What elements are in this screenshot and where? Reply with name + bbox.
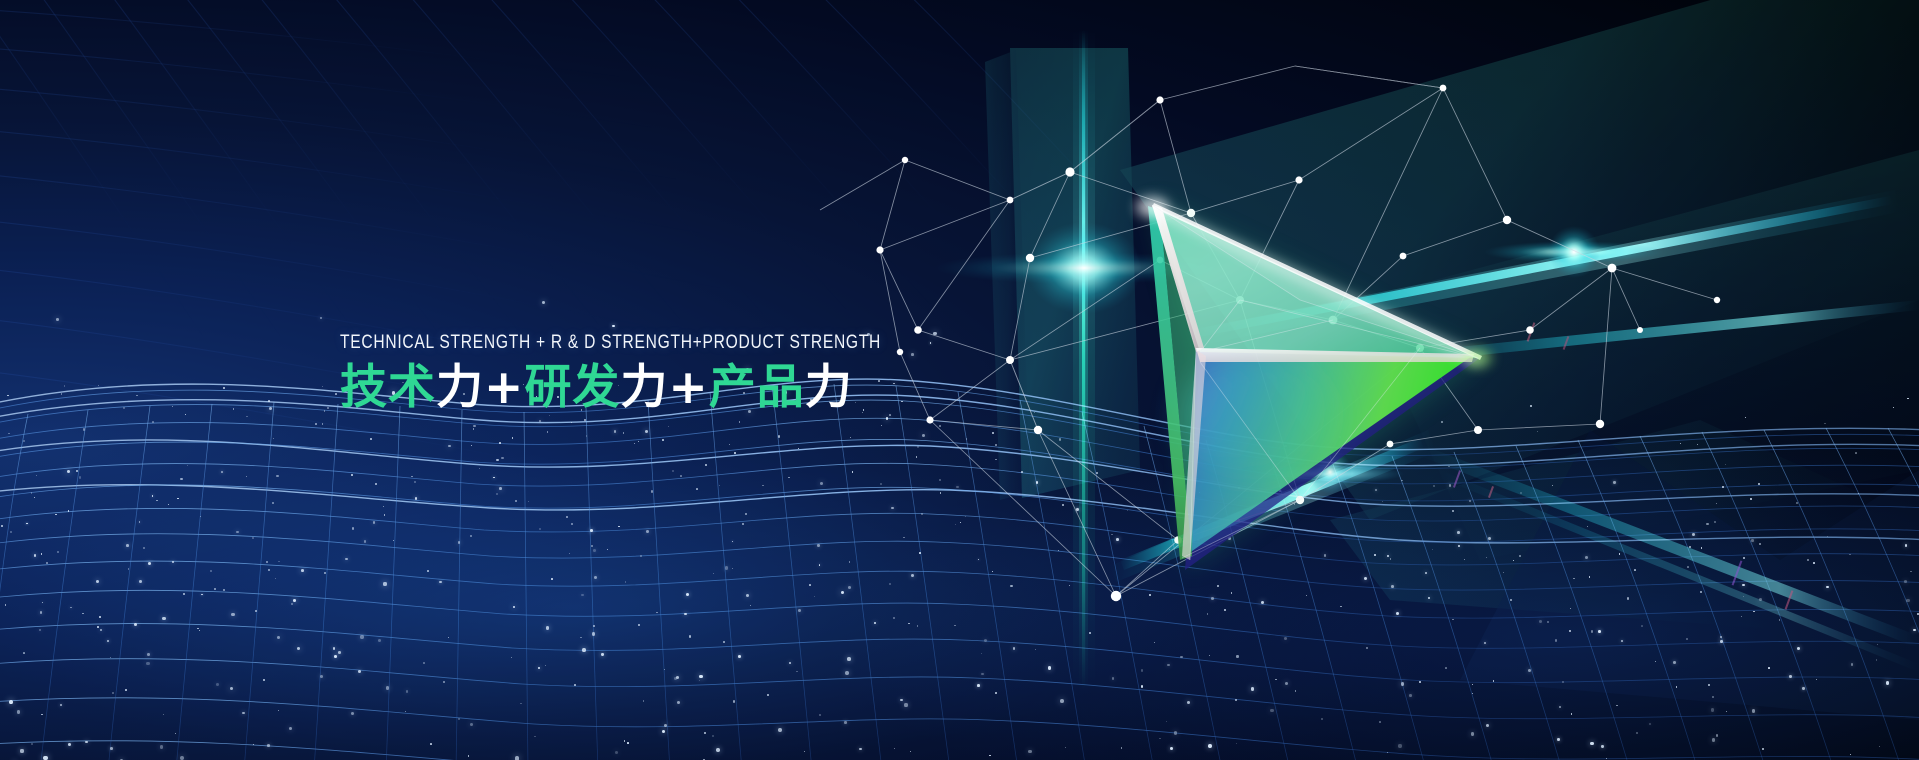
particle <box>1716 503 1717 504</box>
particle <box>1112 677 1115 680</box>
particle <box>210 570 211 571</box>
particle <box>676 676 680 680</box>
particle <box>100 629 103 632</box>
particle <box>732 541 733 542</box>
particle <box>275 578 277 580</box>
particle <box>1743 596 1744 597</box>
particle <box>903 537 905 539</box>
particle <box>1655 661 1656 662</box>
particle <box>977 684 980 687</box>
particle <box>320 675 323 678</box>
particle <box>1616 705 1618 707</box>
particle <box>1294 503 1296 505</box>
particle <box>1813 562 1815 564</box>
particle <box>333 647 336 650</box>
particle <box>1589 576 1590 577</box>
particle <box>1493 680 1494 681</box>
particle <box>1464 559 1465 560</box>
particle <box>1154 642 1155 643</box>
particle <box>1069 585 1070 586</box>
particle <box>917 625 919 627</box>
particle <box>1208 744 1212 748</box>
particle <box>199 630 200 631</box>
hero-banner: TECHNICAL STRENGTH + R & D STRENGTH+PROD… <box>0 0 1919 760</box>
particle <box>584 419 586 421</box>
particle <box>1285 682 1288 685</box>
particle <box>874 622 877 625</box>
particle <box>1339 436 1341 438</box>
particle <box>1742 584 1745 587</box>
particle <box>664 669 665 670</box>
particle <box>849 561 850 562</box>
particle <box>571 523 573 525</box>
particle <box>1745 417 1747 419</box>
particle <box>699 680 700 681</box>
particle <box>1324 554 1327 557</box>
particle <box>1539 620 1542 623</box>
particle <box>804 751 805 752</box>
particle <box>1010 585 1012 587</box>
particle <box>672 470 674 472</box>
particle <box>1207 613 1208 614</box>
particle <box>1486 557 1487 558</box>
particle <box>1741 616 1742 617</box>
particle <box>34 497 35 498</box>
particle <box>664 724 668 728</box>
particle <box>1265 497 1267 499</box>
particle <box>1224 609 1226 611</box>
particle <box>789 662 792 665</box>
particle <box>1141 669 1143 671</box>
particle <box>1211 597 1214 600</box>
particle <box>1261 601 1264 604</box>
particle <box>501 457 503 459</box>
particle <box>1180 656 1182 658</box>
particle <box>1751 539 1754 542</box>
particle <box>778 435 780 437</box>
particle <box>364 540 367 543</box>
particle <box>370 438 372 440</box>
particle <box>1905 544 1908 547</box>
particle <box>1390 558 1392 560</box>
particle <box>123 407 125 409</box>
particle <box>1711 708 1714 711</box>
particle <box>1217 585 1219 587</box>
particle <box>1826 586 1829 589</box>
eyebrow-text: TECHNICAL STRENGTH + R & D STRENGTH+PROD… <box>340 332 881 353</box>
particle <box>1762 748 1764 750</box>
particle <box>1486 724 1489 727</box>
particle <box>1391 585 1394 588</box>
particle <box>643 700 644 701</box>
particle <box>1720 640 1723 643</box>
particle <box>1571 713 1572 714</box>
particle <box>383 506 384 507</box>
particle <box>1471 732 1475 736</box>
particle <box>335 393 337 395</box>
particle <box>1366 647 1368 649</box>
particle <box>1701 547 1702 548</box>
particle <box>168 504 169 505</box>
particle <box>1634 569 1636 571</box>
title-segment-0: 技术 <box>340 360 436 415</box>
particle <box>1687 566 1689 568</box>
title-segment-7: 力 <box>805 360 853 415</box>
particle <box>273 438 274 439</box>
particle <box>301 569 304 572</box>
particle <box>1425 572 1428 575</box>
particle <box>574 684 576 686</box>
particle <box>984 639 987 642</box>
particle <box>253 744 254 745</box>
particle <box>615 751 619 755</box>
particle <box>1228 537 1231 540</box>
particle <box>580 637 581 638</box>
particle <box>1562 681 1564 683</box>
particle <box>1557 738 1560 741</box>
particle <box>152 495 154 497</box>
particle <box>1613 481 1615 483</box>
particle <box>607 549 608 550</box>
particle <box>61 393 63 395</box>
particle <box>468 755 470 757</box>
particle <box>1824 423 1825 424</box>
particle <box>965 516 966 517</box>
particle <box>1484 642 1486 644</box>
particle <box>1587 526 1588 527</box>
particle <box>742 523 744 525</box>
particle <box>917 446 919 448</box>
particle <box>638 441 639 442</box>
particle <box>268 569 270 571</box>
particle <box>278 710 279 711</box>
particle <box>231 613 234 616</box>
particle <box>1692 533 1695 536</box>
particle <box>162 617 165 620</box>
particle <box>1519 555 1521 557</box>
particle <box>1035 649 1036 650</box>
particle <box>1389 441 1391 443</box>
particle <box>1366 409 1367 410</box>
particle <box>686 593 689 596</box>
particle <box>992 571 993 572</box>
particle <box>1759 598 1762 601</box>
particle <box>172 406 173 407</box>
particle <box>618 526 620 528</box>
particle <box>57 551 59 553</box>
particle <box>99 616 101 618</box>
particle <box>995 444 997 446</box>
title-segment-6: 产品 <box>709 360 805 415</box>
particle <box>473 425 475 427</box>
particle <box>545 665 546 666</box>
particle <box>1706 523 1708 525</box>
particle <box>152 421 154 423</box>
particle <box>1 525 3 527</box>
page-title: 技术力+研发力+产品力 <box>340 361 1016 415</box>
particle <box>55 514 57 516</box>
particle <box>216 683 219 686</box>
particle <box>1513 560 1514 561</box>
particle <box>386 686 389 689</box>
particle <box>373 521 376 524</box>
title-segment-4: 力 <box>620 360 668 415</box>
particle <box>1598 630 1601 633</box>
particle <box>1458 545 1461 548</box>
particle <box>1452 510 1454 512</box>
particle <box>916 456 917 457</box>
particle <box>1433 485 1435 487</box>
particle <box>320 317 322 319</box>
particle <box>415 497 418 500</box>
particle <box>891 507 894 510</box>
particle <box>324 410 325 411</box>
particle <box>1708 684 1710 686</box>
particle <box>1570 608 1571 609</box>
particle <box>1121 747 1123 749</box>
particle <box>112 692 114 694</box>
particle <box>1641 625 1643 627</box>
particle <box>1893 407 1894 408</box>
particle <box>1753 611 1755 613</box>
particle <box>1855 452 1857 454</box>
particle <box>668 426 669 427</box>
particle <box>528 501 529 502</box>
particle <box>1686 638 1687 639</box>
particle <box>1488 537 1491 540</box>
particle <box>1716 734 1718 736</box>
particle <box>31 492 33 494</box>
particle <box>458 541 460 543</box>
particle <box>479 468 480 469</box>
particle <box>593 625 595 627</box>
particle <box>1520 492 1522 494</box>
particle <box>31 743 33 745</box>
particle <box>538 667 540 669</box>
particle <box>230 687 233 690</box>
particle <box>358 670 361 673</box>
particle <box>1149 594 1151 596</box>
particle <box>1886 681 1890 685</box>
particle <box>110 657 111 658</box>
particle <box>393 540 394 541</box>
particle <box>1876 659 1878 661</box>
particle <box>677 701 680 704</box>
particle <box>841 591 844 594</box>
particle <box>384 514 385 515</box>
particle <box>625 581 626 582</box>
particle <box>1065 747 1066 748</box>
particle <box>26 523 27 524</box>
particle <box>5 604 6 605</box>
particle <box>1676 686 1677 687</box>
particle <box>405 711 406 712</box>
particle <box>889 583 891 585</box>
particle <box>1159 738 1161 740</box>
particle <box>1768 667 1770 669</box>
particle <box>1752 709 1756 713</box>
particle <box>1807 559 1809 561</box>
particle <box>1636 732 1638 734</box>
particle <box>1569 630 1571 632</box>
particle <box>1170 747 1173 750</box>
particle <box>443 681 445 683</box>
particle <box>10 531 12 533</box>
particle <box>1231 592 1233 594</box>
particle <box>277 636 280 639</box>
particle <box>1457 531 1460 534</box>
particle <box>160 745 163 748</box>
particle <box>430 743 432 745</box>
particle <box>85 741 88 744</box>
particle <box>674 677 677 680</box>
particle <box>762 485 764 487</box>
particle <box>1379 721 1381 723</box>
particle <box>163 714 164 715</box>
particle <box>1116 538 1119 541</box>
particle <box>276 475 278 477</box>
particle <box>96 580 99 583</box>
particle <box>79 476 81 478</box>
particle <box>297 647 300 650</box>
particle <box>684 613 687 616</box>
particle <box>175 733 176 734</box>
particle <box>1722 486 1724 488</box>
particle <box>732 568 734 570</box>
particle <box>197 628 198 629</box>
particle <box>1419 681 1421 683</box>
particle <box>360 635 363 638</box>
particle <box>1238 519 1240 521</box>
particle <box>1700 591 1702 593</box>
particle <box>242 712 245 715</box>
particle <box>591 545 593 547</box>
particle <box>651 490 653 492</box>
particle <box>1409 694 1412 697</box>
particle <box>940 492 942 494</box>
particle <box>246 476 247 477</box>
particle <box>515 500 517 502</box>
particle <box>345 558 348 561</box>
particle <box>978 559 979 560</box>
particle <box>960 522 961 523</box>
particle <box>148 562 151 565</box>
particle <box>351 474 353 476</box>
particle <box>1601 745 1603 747</box>
particle <box>1432 549 1433 550</box>
particle <box>183 593 185 595</box>
particle <box>1528 669 1531 672</box>
particle <box>267 744 270 747</box>
particle <box>42 602 44 604</box>
particle <box>1021 471 1023 473</box>
particle <box>515 756 519 760</box>
particle <box>473 428 475 430</box>
particle <box>886 417 889 420</box>
particle <box>1197 539 1199 541</box>
particle <box>881 425 882 426</box>
particle <box>97 626 99 628</box>
particle <box>1697 444 1698 445</box>
particle <box>1552 485 1554 487</box>
particle <box>1284 637 1287 640</box>
particle <box>23 440 25 442</box>
particle <box>1849 554 1851 556</box>
particle <box>729 444 730 445</box>
particle <box>448 445 451 448</box>
particle <box>634 443 635 444</box>
particle <box>56 318 59 321</box>
particle <box>689 635 691 637</box>
particle <box>1428 597 1431 600</box>
particle <box>1510 599 1512 601</box>
particle <box>1530 405 1532 407</box>
particle <box>814 596 815 597</box>
particle <box>43 756 47 760</box>
particle <box>542 301 545 304</box>
particle <box>134 623 137 626</box>
particle <box>7 395 8 396</box>
particle <box>656 612 658 614</box>
particle <box>411 476 413 478</box>
particle <box>1387 752 1388 753</box>
particle <box>70 607 72 609</box>
particle <box>1449 484 1452 487</box>
particle <box>1627 597 1629 599</box>
particle <box>569 553 570 554</box>
particle <box>1714 521 1716 523</box>
particle <box>41 714 42 715</box>
particle <box>448 637 449 638</box>
particle <box>1398 744 1401 747</box>
particle <box>733 700 735 702</box>
particle <box>125 689 127 691</box>
particle <box>1199 492 1200 493</box>
particle <box>820 482 823 485</box>
particle <box>1712 738 1716 742</box>
particle <box>1396 612 1399 615</box>
particle <box>593 549 596 552</box>
particle <box>1452 619 1454 621</box>
particle <box>1364 577 1367 580</box>
particle <box>847 657 851 661</box>
particle <box>624 740 625 741</box>
particle <box>1725 464 1727 466</box>
particle <box>746 594 749 597</box>
particle <box>705 464 707 466</box>
particle <box>278 561 279 562</box>
particle <box>322 423 323 424</box>
particle <box>1111 534 1113 536</box>
particle <box>547 431 548 432</box>
particle <box>1062 504 1064 506</box>
particle <box>1445 667 1447 669</box>
particle <box>1238 487 1240 489</box>
particle <box>172 561 174 563</box>
particle <box>566 516 567 517</box>
particle <box>614 430 616 432</box>
particle <box>1028 750 1031 753</box>
particle <box>539 420 541 422</box>
particle <box>520 703 522 705</box>
particle <box>1827 536 1828 537</box>
particle <box>201 594 202 595</box>
particle <box>458 718 460 720</box>
particle <box>439 581 441 583</box>
particle <box>1382 501 1383 502</box>
particle <box>268 400 270 402</box>
particle <box>156 500 157 501</box>
